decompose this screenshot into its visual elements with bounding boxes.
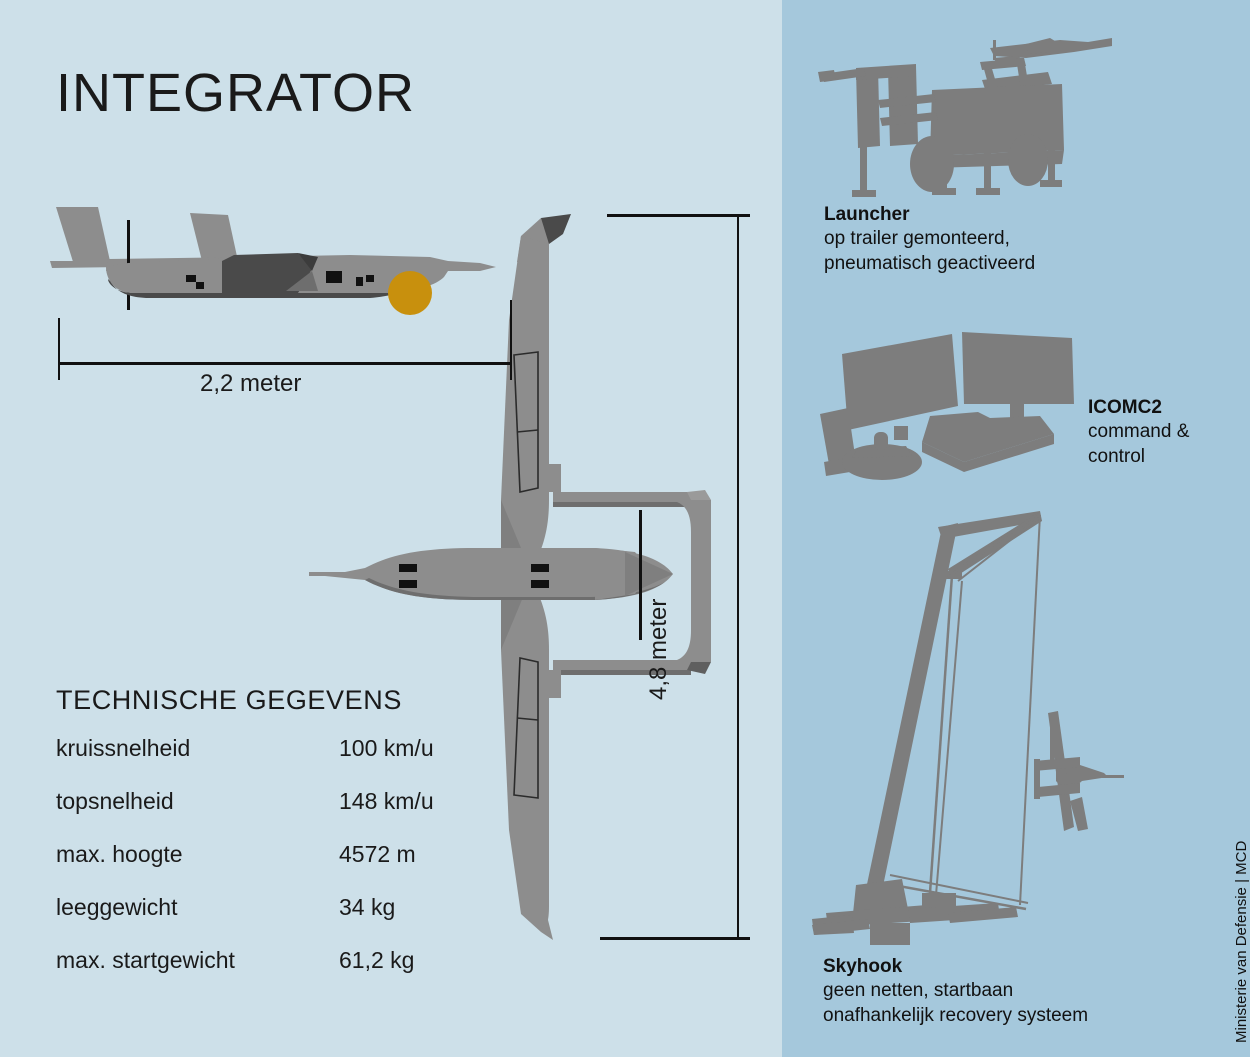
table-row: topsnelheid 148 km/u: [56, 788, 476, 841]
table-row: kruissnelheid 100 km/u: [56, 735, 476, 788]
component-title: Skyhook: [823, 955, 1088, 979]
component-desc-line2: pneumatisch geactiveerd: [824, 252, 1035, 276]
spec-value: 34 kg: [339, 894, 476, 947]
component-label-icomc2: ICOMC2 command & control: [1088, 396, 1189, 469]
infographic-page: INTEGRATOR: [0, 0, 1250, 1057]
spec-label: leeggewicht: [56, 894, 339, 947]
dim-length-label: 2,2 meter: [200, 370, 301, 398]
dim-length-tick-right: [510, 300, 512, 380]
component-desc-line1: op trailer gemonteerd,: [824, 227, 1035, 251]
credit-line: Ministerie van Defensie | MCD: [1233, 841, 1250, 1043]
dim-wingspan-tick-top: [607, 214, 750, 217]
component-label-launcher: Launcher op trailer gemonteerd, pneumati…: [824, 203, 1035, 276]
dim-length-line: [58, 362, 512, 365]
spec-label: max. hoogte: [56, 841, 339, 894]
table-row: leeggewicht 34 kg: [56, 894, 476, 947]
dim-wingspan-label: 4,8 meter: [645, 599, 673, 700]
spec-label: kruissnelheid: [56, 735, 339, 788]
dim-length-tick-left: [58, 318, 60, 380]
spec-label: topsnelheid: [56, 788, 339, 841]
dim-wingspan-line: [737, 215, 739, 940]
table-row: max. startgewicht 61,2 kg: [56, 947, 476, 1000]
component-desc-line2: control: [1088, 445, 1189, 469]
table-row: max. hoogte 4572 m: [56, 841, 476, 894]
page-title: INTEGRATOR: [56, 62, 415, 124]
dim-wingspan-tick-bottom: [600, 937, 750, 940]
spec-heading: TECHNISCHE GEGEVENS: [56, 685, 402, 716]
trailer-launcher-icon: [812, 18, 1112, 208]
spec-table: kruissnelheid 100 km/u topsnelheid 148 k…: [56, 735, 476, 1000]
component-title: Launcher: [824, 203, 1035, 227]
spec-value: 148 km/u: [339, 788, 476, 841]
spec-label: max. startgewicht: [56, 947, 339, 1000]
component-title: ICOMC2: [1088, 396, 1189, 420]
control-station-icon: [818, 330, 1078, 485]
spec-value: 100 km/u: [339, 735, 476, 788]
component-label-skyhook: Skyhook geen netten, startbaan onafhanke…: [823, 955, 1088, 1028]
component-desc-line1: geen netten, startbaan: [823, 979, 1088, 1003]
component-desc-line2: onafhankelijk recovery systeem: [823, 1004, 1088, 1028]
spec-value: 61,2 kg: [339, 947, 476, 1000]
spec-value: 4572 m: [339, 841, 476, 894]
component-desc-line1: command &: [1088, 420, 1189, 444]
skyhook-crane-icon: [812, 505, 1152, 950]
